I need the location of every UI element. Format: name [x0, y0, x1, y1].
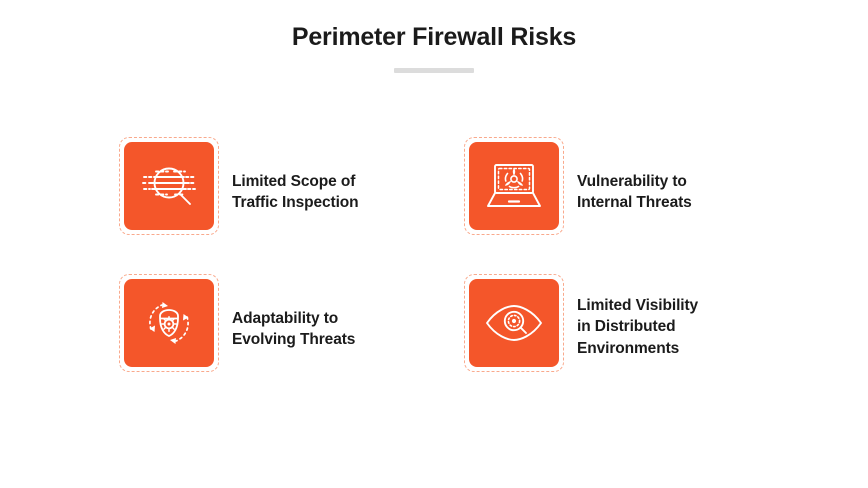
icon-frame — [464, 274, 564, 372]
icon-frame — [119, 274, 219, 372]
shield-virus-rotating-arrows-icon — [138, 294, 200, 352]
icon-frame — [464, 137, 564, 235]
risk-card-label: Limited Scope of Traffic Inspection — [219, 137, 359, 214]
icon-tile — [124, 142, 214, 230]
risk-card[interactable]: Vulnerability to Internal Threats — [464, 137, 799, 274]
magnifier-traffic-lines-icon — [138, 158, 200, 214]
page-title: Perimeter Firewall Risks — [0, 22, 868, 52]
risk-card-label: Vulnerability to Internal Threats — [564, 137, 692, 214]
risk-card[interactable]: Limited Scope of Traffic Inspection — [119, 137, 464, 274]
icon-frame — [119, 137, 219, 235]
eye-magnifier-icon — [482, 300, 546, 346]
risk-card[interactable]: Adaptability to Evolving Threats — [119, 274, 464, 411]
icon-tile — [469, 142, 559, 230]
icon-tile — [469, 279, 559, 367]
icon-tile — [124, 279, 214, 367]
risk-card-label: Adaptability to Evolving Threats — [219, 274, 355, 351]
laptop-biohazard-icon — [485, 159, 543, 213]
title-block: Perimeter Firewall Risks — [0, 22, 868, 73]
risk-card[interactable]: Limited Visibility in Distributed Enviro… — [464, 274, 799, 411]
risk-card-grid: Limited Scope of Traffic Inspection — [119, 137, 799, 411]
title-divider — [394, 68, 474, 73]
risk-card-label: Limited Visibility in Distributed Enviro… — [564, 274, 698, 359]
slide-canvas: Perimeter Firewall Risks — [0, 0, 868, 488]
